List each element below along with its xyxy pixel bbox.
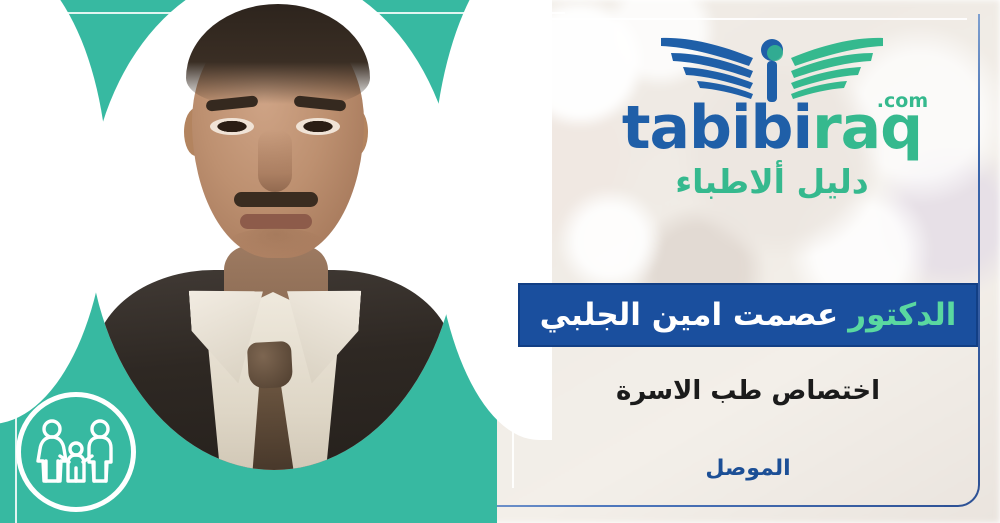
doctor-city: الموصل (518, 456, 978, 481)
brand-tagline: دليل ألاطباء (675, 162, 868, 201)
portrait-frame (88, 0, 460, 470)
winged-caduceus-icon (657, 28, 887, 102)
family-badge (16, 392, 136, 512)
doctor-name: عصمت امين الجلبي (540, 300, 839, 331)
doctor-portrait (88, 0, 460, 470)
wordmark-part1: tabib (622, 93, 793, 163)
wordmark-stem: i (793, 93, 813, 163)
doctor-title: الدكتور (848, 300, 956, 331)
family-icon (33, 416, 119, 488)
doctor-name-banner: الدكتور عصمت امين الجلبي (518, 283, 978, 347)
doctor-profile-card: tabibiraq .com دليل ألاطباء الدكتور عصمت… (0, 0, 1000, 523)
frame-right-line (978, 14, 980, 474)
brand-wordmark: tabibiraq .com (622, 98, 922, 158)
brand-logo: tabibiraq .com دليل ألاطباء (612, 28, 932, 224)
doctor-specialty: اختصاص طب الاسرة (518, 376, 978, 406)
wordmark-dotcom: .com (877, 92, 928, 111)
